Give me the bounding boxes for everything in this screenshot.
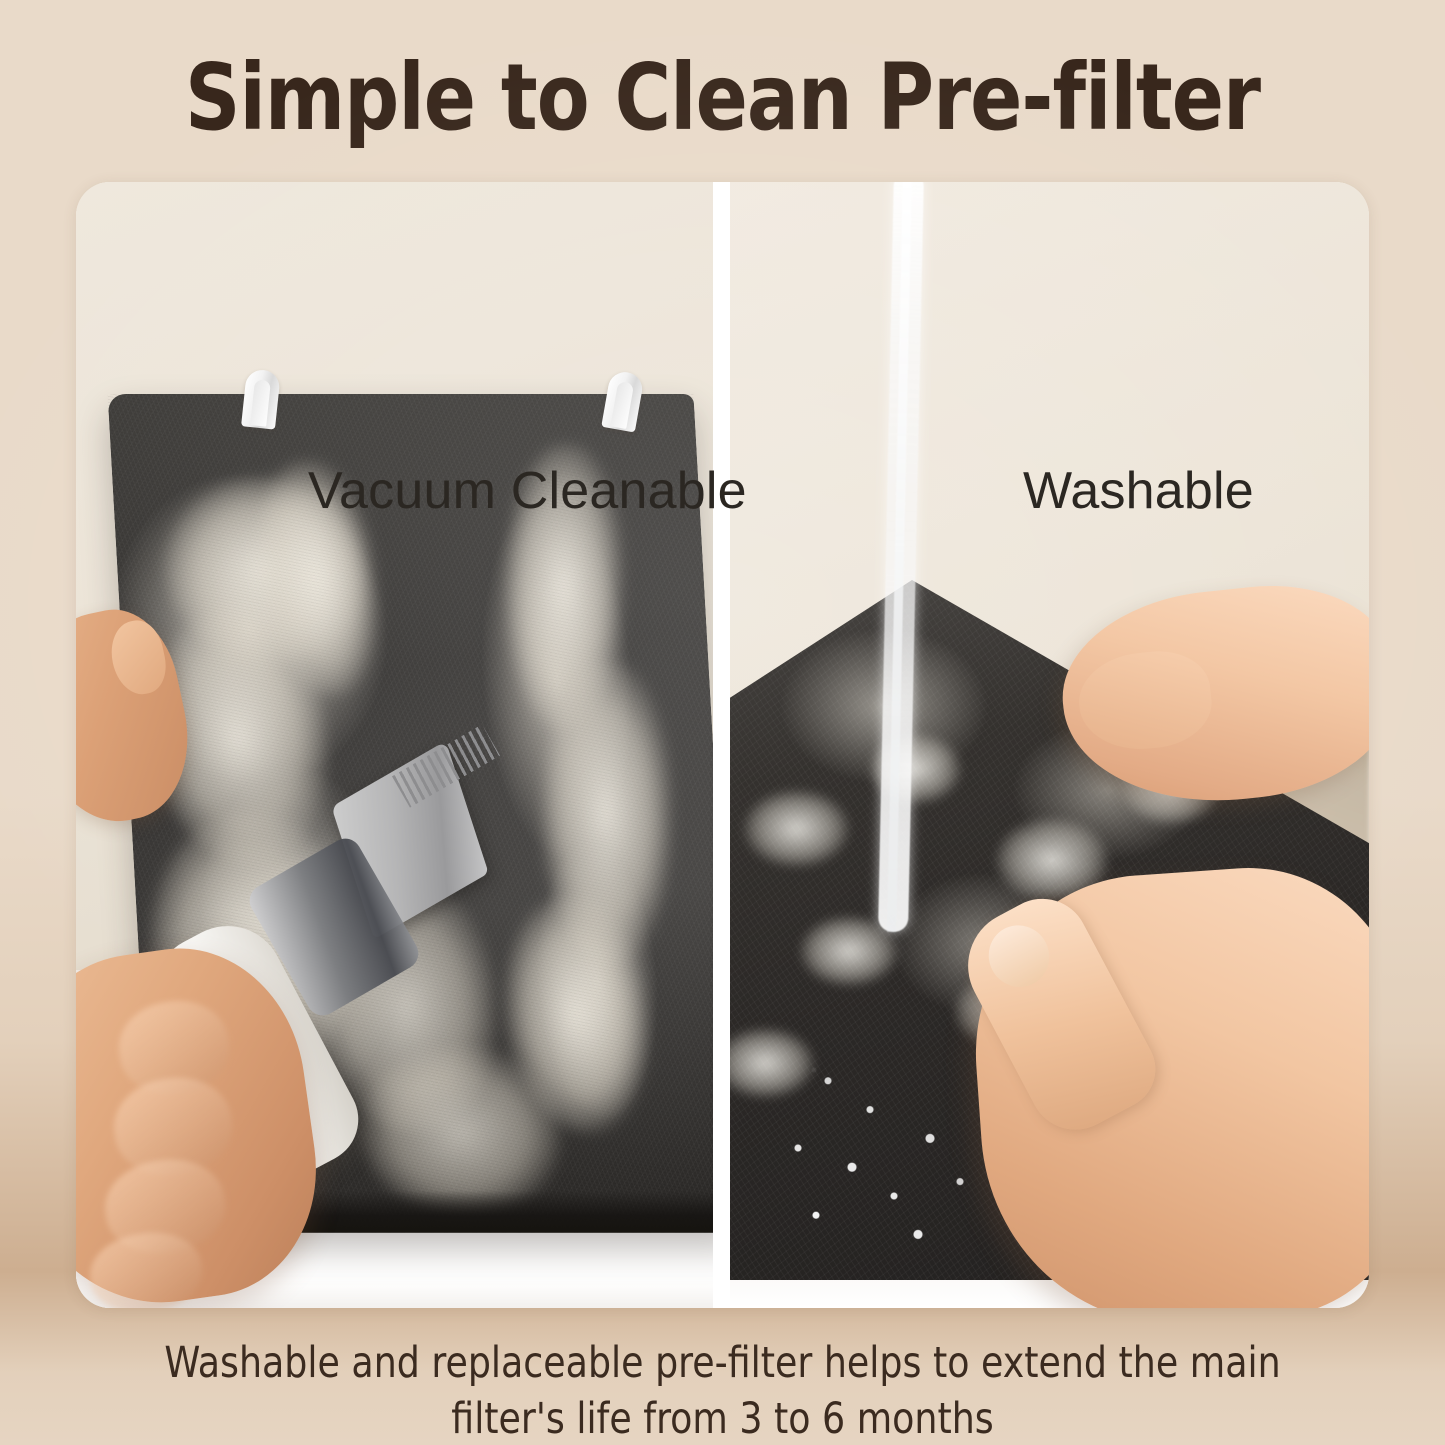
panel-divider — [713, 182, 730, 1308]
product-feature-card: Simple to Clean Pre-filter — [0, 0, 1445, 1445]
panel-vacuum-cleanable — [76, 182, 713, 1308]
hand-gripping-wet-filter — [964, 858, 1369, 1308]
label-vacuum-cleanable: Vacuum Cleanable — [308, 461, 747, 521]
pull-tab-left-a — [241, 368, 281, 429]
caption-line-2: filter's life from 3 to 6 months — [43, 1392, 1401, 1445]
caption-line-1: Washable and replaceable pre-filter help… — [43, 1336, 1401, 1392]
caption: Washable and replaceable pre-filter help… — [43, 1336, 1401, 1445]
page-title: Simple to Clean Pre-filter — [51, 52, 1395, 144]
photo-comparison-board: Vacuum Cleanable Washable — [76, 182, 1369, 1308]
label-washable: Washable — [1023, 461, 1254, 521]
panel-washable — [730, 182, 1369, 1308]
